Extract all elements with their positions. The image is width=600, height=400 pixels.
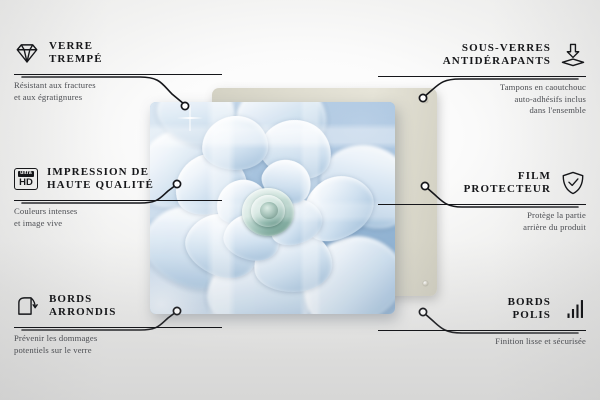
feature-divider xyxy=(14,200,222,201)
feature-divider xyxy=(14,327,222,328)
feature-divider xyxy=(378,330,586,331)
rounded-corner-icon xyxy=(14,293,40,319)
feature-description: Couleurs intenses et image vive xyxy=(14,206,222,229)
feature-divider xyxy=(378,204,586,205)
feature-header: BORDS POLIS xyxy=(378,292,586,326)
feature-impression-haute-qualite: ultra HD IMPRESSION DE HAUTE QUALITÉ Cou… xyxy=(14,162,222,229)
feature-title: VERRE TREMPÉ xyxy=(49,40,103,66)
feature-title: IMPRESSION DE HAUTE QUALITÉ xyxy=(47,166,154,192)
feature-title: BORDS ARRONDIS xyxy=(49,293,116,319)
shield-check-icon xyxy=(560,170,586,196)
feature-description: Résistant aux fractures et aux égratignu… xyxy=(14,80,222,103)
feature-header: VERRE TREMPÉ xyxy=(14,36,222,70)
feature-title: FILM PROTECTEUR xyxy=(464,170,551,196)
feature-sous-verres-antiderapants: SOUS-VERRES ANTIDÉRAPANTS Tampons en cao… xyxy=(378,38,586,117)
feature-description: Protège la partie arrière du produit xyxy=(378,210,586,233)
feature-header: ultra HD IMPRESSION DE HAUTE QUALITÉ xyxy=(14,162,222,196)
feature-header: SOUS-VERRES ANTIDÉRAPANTS xyxy=(378,38,586,72)
hatch-triangle-icon xyxy=(560,296,586,322)
feature-description: Tampons en caoutchouc auto-adhésifs incl… xyxy=(378,82,586,116)
feature-divider xyxy=(378,76,586,77)
succulent-core-center xyxy=(260,202,278,219)
feature-description: Finition lisse et sécurisée xyxy=(378,336,586,347)
feature-bords-arrondis: BORDS ARRONDIS Prévenir les dommages pot… xyxy=(14,289,222,356)
corner-pad-bottom-right xyxy=(423,281,428,286)
ultra-hd-icon: ultra HD xyxy=(14,168,38,190)
infographic-page: VERRE TREMPÉ Résistant aux fractures et … xyxy=(0,0,600,400)
feature-film-protecteur: FILM PROTECTEUR Protège la partie arrièr… xyxy=(378,166,586,233)
feature-header: BORDS ARRONDIS xyxy=(14,289,222,323)
feature-verre-trempe: VERRE TREMPÉ Résistant aux fractures et … xyxy=(14,36,222,103)
feature-bords-polis: BORDS POLIS Finition lisse et sécurisée xyxy=(378,292,586,348)
feature-title: BORDS POLIS xyxy=(508,296,551,322)
feature-divider xyxy=(14,74,222,75)
feature-title: SOUS-VERRES ANTIDÉRAPANTS xyxy=(443,42,551,68)
diamond-icon xyxy=(14,40,40,66)
feature-description: Prévenir les dommages potentiels sur le … xyxy=(14,333,222,356)
press-pad-icon xyxy=(560,42,586,68)
feature-header: FILM PROTECTEUR xyxy=(378,166,586,200)
